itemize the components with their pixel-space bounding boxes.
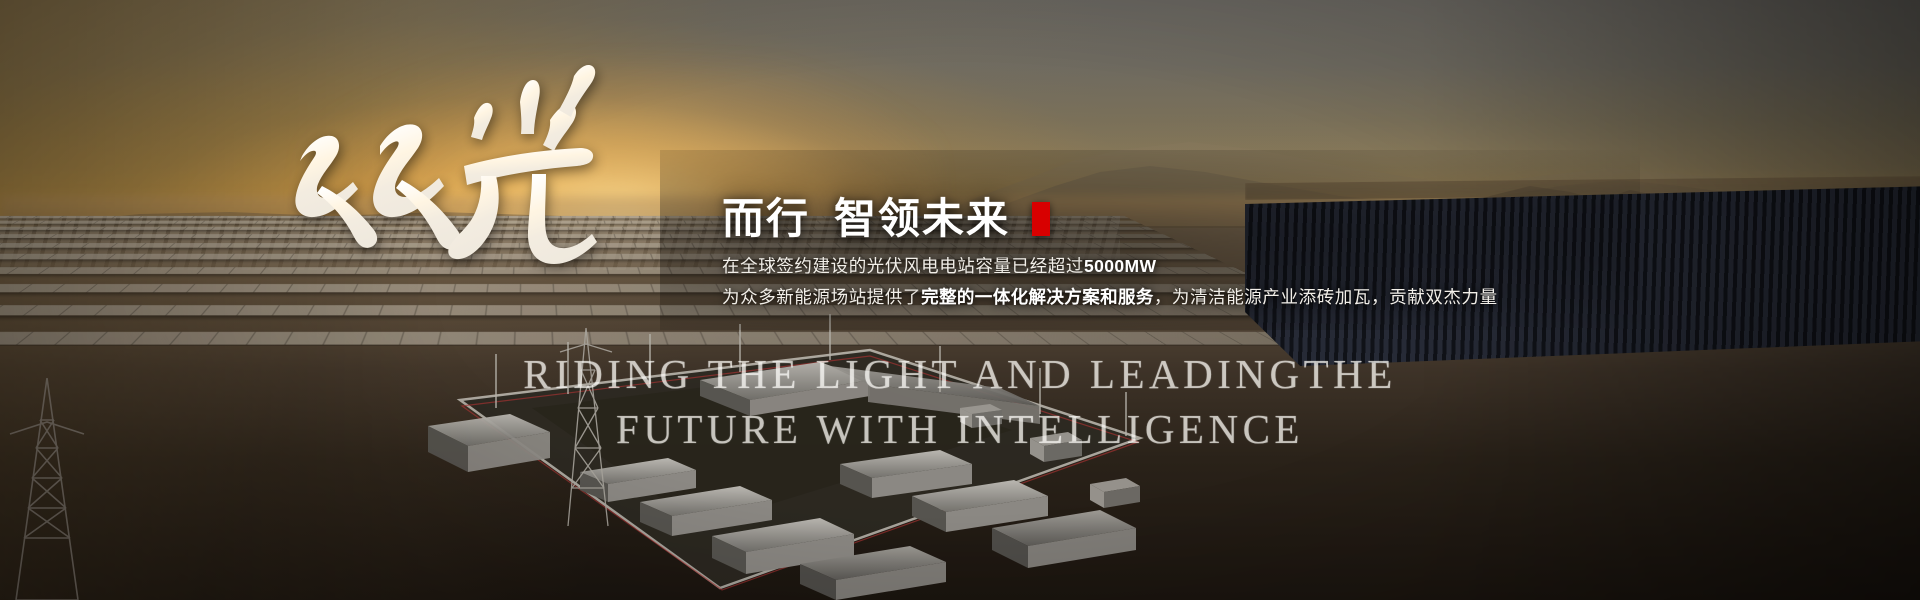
subtitle-line-2-highlight: 完整的一体化解决方案和服务 [921, 287, 1154, 307]
headline-part-2: 智领未来 [834, 196, 1010, 241]
hero-banner: 而行 智领未来 在全球签约建设的光伏风电电站容量已经超过5000MW 为众多新能… [0, 0, 1920, 600]
page-title: 而行 智领未来 [722, 196, 1822, 241]
energy-storage-substation [400, 288, 1160, 600]
subtitle-line-1-text: 在全球签约建设的光伏风电电站容量已经超过 [722, 256, 1084, 276]
subtitle-line-1: 在全球签约建设的光伏风电电站容量已经超过5000MW [722, 252, 1822, 280]
red-accent-block [1032, 202, 1050, 236]
headline-part-1: 而行 [722, 196, 810, 241]
subtitle-line-2-prefix: 为众多新能源场站提供了 [722, 287, 921, 307]
subtitle-line-2: 为众多新能源场站提供了完整的一体化解决方案和服务，为清洁能源产业添砖加瓦，贡献双… [722, 283, 1822, 311]
calligraphy-brush-logo [288, 62, 618, 280]
subtitle-line-2-suffix: ，为清洁能源产业添砖加瓦，贡献双杰力量 [1154, 287, 1498, 307]
hero-copy: 而行 智领未来 在全球签约建设的光伏风电电站容量已经超过5000MW 为众多新能… [722, 196, 1822, 311]
subtitle-line-1-highlight: 5000MW [1084, 256, 1156, 276]
transmission-tower [2, 378, 92, 600]
